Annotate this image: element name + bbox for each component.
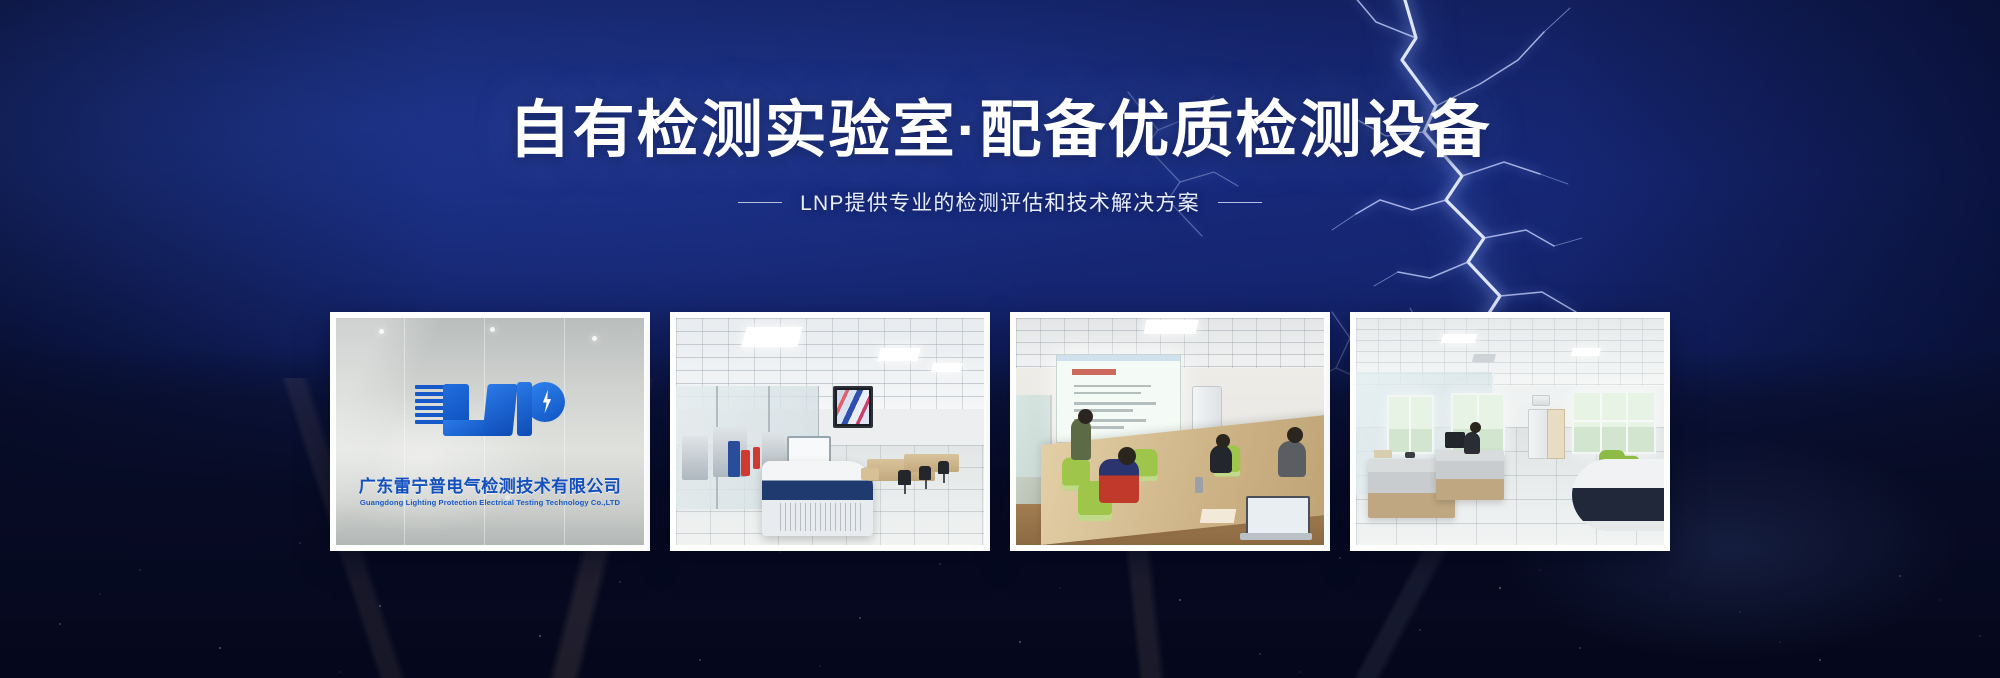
logo-letter-p	[517, 382, 565, 436]
subtitle-text: LNP提供专业的检测评估和技术解决方案	[800, 187, 1200, 217]
gallery-card-meeting-training-room[interactable]	[1010, 312, 1330, 551]
gallery-card-testing-laboratory[interactable]	[670, 312, 990, 551]
control-console	[762, 461, 873, 536]
documents	[1200, 509, 1236, 523]
desktop-monitor	[1445, 432, 1465, 448]
office-chair	[938, 461, 949, 474]
ceiling-spot-light	[592, 336, 597, 341]
lab-equipment-red	[741, 450, 750, 476]
lnp-logo-icon	[415, 382, 565, 436]
page-subtitle: LNP提供专业的检测评估和技术解决方案	[0, 187, 2000, 217]
window	[1387, 395, 1434, 453]
logo-letter-n	[482, 384, 517, 436]
ceiling-light-panel	[741, 327, 803, 347]
storage-cabinet	[861, 468, 879, 480]
logo-bars-icon	[415, 385, 445, 436]
wooden-shelf	[1547, 409, 1565, 459]
window	[1572, 391, 1656, 454]
office-chair	[898, 470, 911, 485]
office-desk	[1436, 450, 1504, 500]
ceiling-light-panel	[1441, 334, 1477, 343]
rule-left-decoration	[738, 202, 782, 204]
logo-letter-l	[443, 384, 469, 436]
seated-person	[1210, 445, 1232, 473]
thermos-cup	[1195, 477, 1203, 493]
hero-banner: 自有检测实验室·配备优质检测设备 LNP提供专业的检测评估和技术解决方案	[0, 0, 2000, 678]
seated-worker	[1464, 432, 1480, 454]
gallery-card-office-workspace[interactable]	[1350, 312, 1670, 551]
photo-office-workspace	[1356, 318, 1664, 545]
photo-testing-laboratory	[676, 318, 984, 545]
seated-person-head	[1118, 447, 1136, 465]
photo-gallery: 广东雷宁普电气检测技术有限公司 Guangdong Lighting Prote…	[0, 312, 2000, 551]
ceiling-vent	[1472, 354, 1496, 362]
office-chair	[919, 466, 931, 480]
laptop-computer	[1240, 496, 1312, 540]
photo-meeting-training-room	[1016, 318, 1324, 545]
gallery-card-company-logo-wall[interactable]: 广东雷宁普电气检测技术有限公司 Guangdong Lighting Prote…	[330, 312, 650, 551]
company-name-cn: 广东雷宁普电气检测技术有限公司	[359, 472, 622, 497]
desk-papers	[1374, 450, 1392, 458]
company-name-en: Guangdong Lighting Protection Electrical…	[360, 498, 620, 507]
seated-person	[1099, 459, 1139, 503]
seated-person-head	[1287, 427, 1303, 443]
ceiling-light-panel	[877, 348, 921, 361]
presenter-person	[1071, 418, 1091, 460]
reception-counter	[1572, 459, 1664, 532]
page-title: 自有检测实验室·配备优质检测设备	[0, 96, 2000, 165]
seated-person	[1278, 441, 1306, 477]
photo-company-logo-wall: 广东雷宁普电气检测技术有限公司 Guangdong Lighting Prote…	[336, 318, 644, 545]
headline-block: 自有检测实验室·配备优质检测设备 LNP提供专业的检测评估和技术解决方案	[0, 96, 2000, 217]
work-desk	[904, 454, 959, 472]
ceiling-light-panel	[1571, 348, 1601, 356]
air-conditioner-unit	[1532, 395, 1550, 406]
ceiling-light-panel	[930, 363, 963, 372]
seated-person-head	[1216, 434, 1230, 448]
rule-right-decoration	[1218, 202, 1262, 204]
ceiling-light-panel	[1144, 320, 1199, 334]
presenter-head	[1078, 409, 1093, 424]
lab-equipment	[682, 436, 708, 480]
lab-equipment-red	[753, 447, 760, 469]
wall-mounted-display	[833, 386, 873, 428]
lab-equipment-blue	[728, 441, 740, 477]
desk-equipment	[1405, 452, 1415, 458]
